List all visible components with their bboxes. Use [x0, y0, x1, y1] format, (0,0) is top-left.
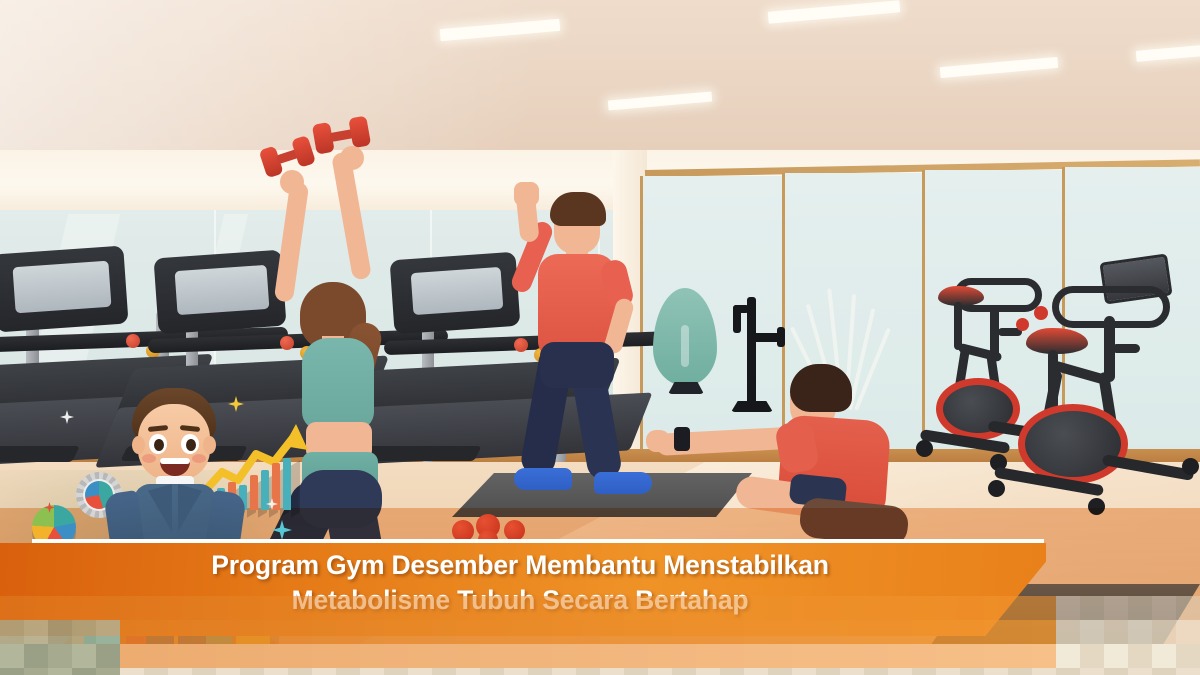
- mascot-shoe-right: [176, 650, 218, 668]
- man-hips: [540, 342, 614, 388]
- promo-banner-image: Program Gym Desember Membantu Menstabilk…: [0, 0, 1200, 675]
- woman-hand-left: [280, 170, 304, 194]
- seated-hand: [646, 430, 670, 452]
- mascot-pupil-right: [186, 439, 196, 451]
- mascot-ear-right: [203, 436, 216, 454]
- mascot-teeth: [160, 458, 190, 464]
- man-hair: [550, 192, 606, 226]
- sparkle-1: [60, 410, 74, 424]
- ceiling-shading: [0, 0, 1200, 152]
- spin-bike-front: [1040, 258, 1200, 508]
- man-seated-stretching: [650, 356, 910, 556]
- bike-resistance-knob: [1016, 318, 1029, 331]
- woman-arm-left: [274, 181, 310, 302]
- bike-resistance-knob-front: [1034, 306, 1048, 320]
- mascot-shoe-left: [136, 650, 178, 668]
- mascot-cheek-right: [192, 454, 206, 463]
- man-fist: [514, 182, 539, 206]
- wristwatch: [674, 427, 690, 451]
- mascot-ear-left: [132, 436, 145, 454]
- seated-hair: [790, 364, 852, 412]
- woman-hand-right: [340, 146, 364, 170]
- man-shoe-right: [594, 472, 652, 494]
- mascot-cheek-left: [142, 454, 156, 463]
- mascot-pupil-left: [154, 439, 164, 451]
- man-shoe-left: [514, 468, 572, 490]
- woman-arm-right: [331, 151, 372, 280]
- banner-title-text: Program Gym Desember Membantu Menstabilk…: [0, 548, 1040, 618]
- man-standing-celebrating: [500, 186, 670, 516]
- floor-dumbbell-3: [504, 520, 525, 541]
- banner-top-rule: [32, 539, 1044, 543]
